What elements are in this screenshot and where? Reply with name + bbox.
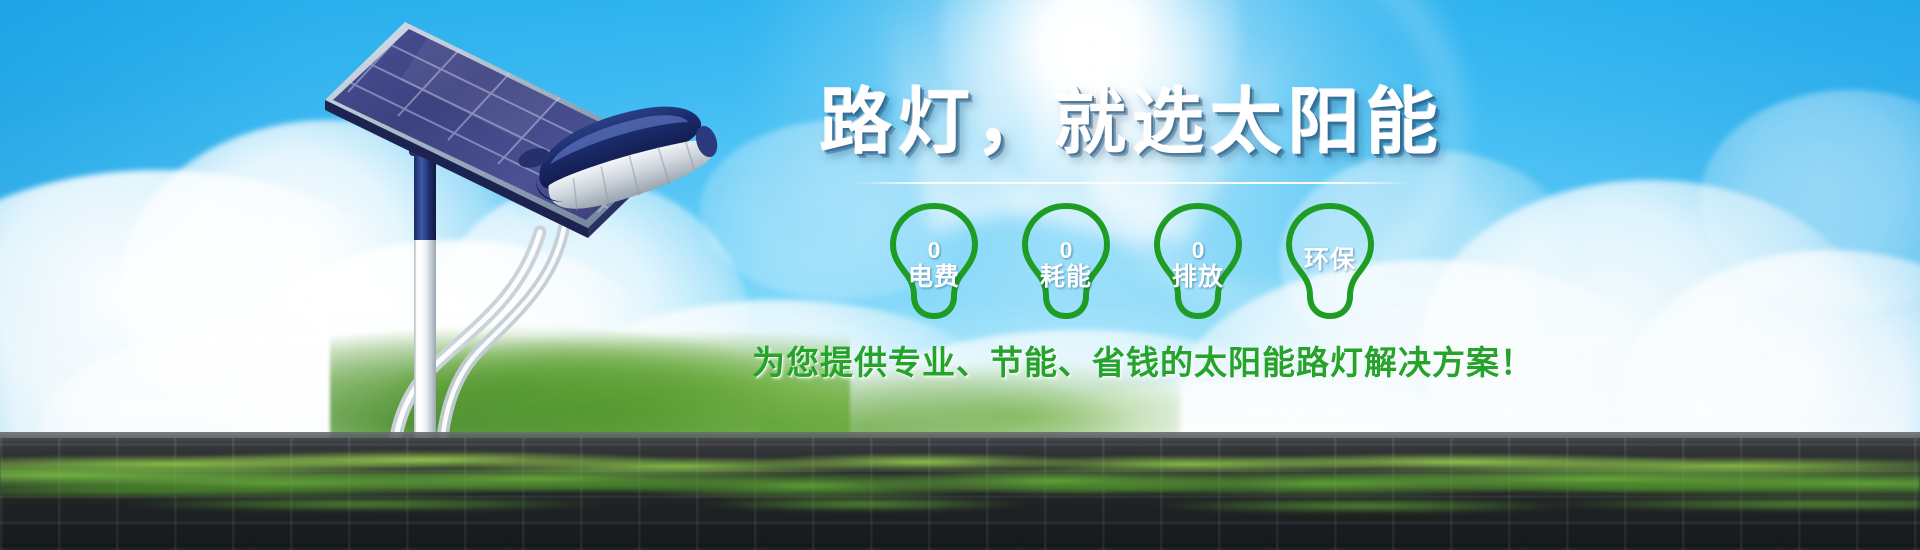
badge-label: 电费 xyxy=(908,264,960,291)
badge-label: 环保 xyxy=(1304,247,1356,274)
banner-copy: 路灯，就选太阳能 0 电费 0 耗能 xyxy=(752,86,1512,384)
badge-zero-value: 0 xyxy=(1192,239,1205,262)
badge-label: 排放 xyxy=(1172,264,1224,291)
ivy-foliage-bottom xyxy=(0,456,1920,542)
feature-badge-haoneng[interactable]: 0 耗能 xyxy=(1016,200,1116,322)
headline-divider xyxy=(852,182,1412,184)
badge-zero-value: 0 xyxy=(1060,239,1073,262)
feature-badge-text: 0 电费 xyxy=(884,200,984,322)
feature-badge-text: 0 耗能 xyxy=(1016,200,1116,322)
badge-label: 耗能 xyxy=(1040,264,1092,291)
solar-street-light-banner: 路灯，就选太阳能 0 电费 0 耗能 xyxy=(0,0,1920,550)
banner-tagline: 为您提供专业、节能、省钱的太阳能路灯解决方案！ xyxy=(752,336,1512,384)
feature-badge-text: 0 排放 xyxy=(1148,200,1248,322)
feature-badge-paifang[interactable]: 0 排放 xyxy=(1148,200,1248,322)
feature-badge-dianfei[interactable]: 0 电费 xyxy=(884,200,984,322)
feature-badge-text: 环保 xyxy=(1280,200,1380,322)
badge-zero-value: 0 xyxy=(928,239,941,262)
feature-badge-huanbao[interactable]: 环保 xyxy=(1280,200,1380,322)
feature-badge-list: 0 电费 0 耗能 0 排放 xyxy=(752,200,1512,322)
page-title: 路灯，就选太阳能 xyxy=(752,86,1512,162)
